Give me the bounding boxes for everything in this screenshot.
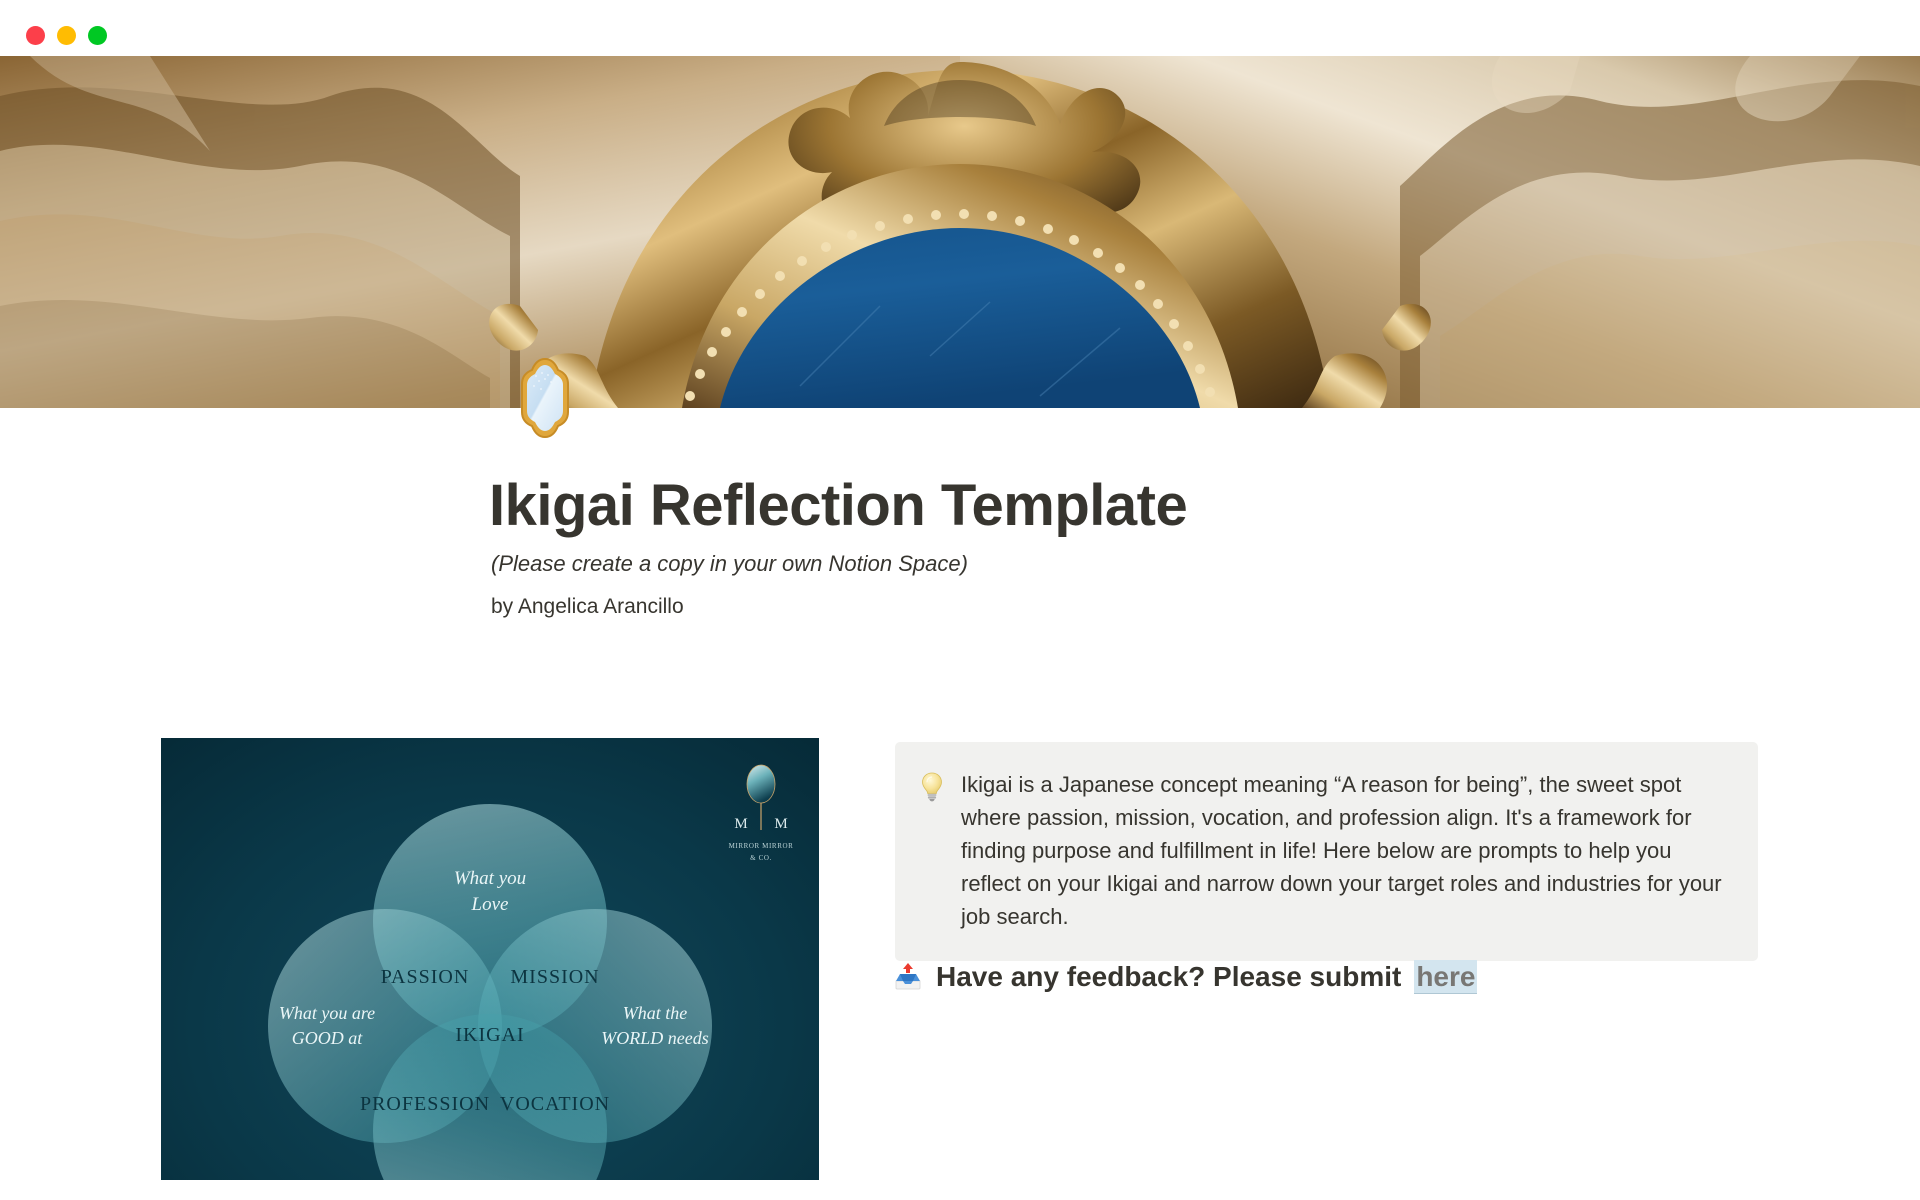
outbox-tray-icon (893, 962, 923, 992)
svg-text:M: M (774, 816, 787, 832)
svg-text:PROFESSION: PROFESSION (360, 1093, 490, 1115)
svg-text:Love: Love (471, 894, 509, 915)
page-title: Ikigai Reflection Template (489, 472, 1187, 539)
svg-text:& CO.: & CO. (750, 854, 772, 862)
svg-text:What you can be: What you can be (430, 1178, 550, 1180)
svg-text:What you: What you (454, 868, 526, 889)
document-body: Ikigai Reflection Template (Please creat… (0, 408, 1920, 1200)
info-callout: Ikigai is a Japanese concept meaning “A … (895, 742, 1758, 961)
page-cover-image (0, 56, 1920, 408)
callout-text: Ikigai is a Japanese concept meaning “A … (961, 768, 1728, 933)
window-controls (26, 26, 107, 45)
page-subtitle: (Please create a copy in your own Notion… (491, 551, 968, 577)
minimize-window-button[interactable] (57, 26, 76, 45)
page-icon-mirror-icon[interactable] (516, 356, 574, 440)
svg-text:GOOD at: GOOD at (292, 1028, 363, 1048)
svg-text:What the: What the (623, 1003, 688, 1023)
two-column-section: What you Love What you are GOOD at What … (0, 738, 1920, 1200)
feedback-label: Have any feedback? Please submit (936, 961, 1401, 993)
light-bulb-icon (921, 768, 943, 802)
close-window-button[interactable] (26, 26, 45, 45)
svg-text:WORLD needs: WORLD needs (601, 1028, 708, 1048)
page-byline: by Angelica Arancillo (491, 595, 684, 619)
svg-text:IKIGAI: IKIGAI (455, 1024, 524, 1046)
feedback-heading: Have any feedback? Please submit here (893, 960, 1477, 994)
svg-text:M: M (734, 816, 747, 832)
svg-text:MIRROR MIRROR: MIRROR MIRROR (729, 842, 794, 850)
maximize-window-button[interactable] (88, 26, 107, 45)
svg-text:VOCATION: VOCATION (500, 1093, 610, 1115)
feedback-submit-link[interactable]: here (1414, 960, 1477, 994)
svg-text:What you are: What you are (279, 1003, 375, 1023)
svg-text:PASSION: PASSION (381, 966, 470, 988)
svg-text:MISSION: MISSION (510, 966, 599, 988)
ikigai-venn-diagram-image[interactable]: What you Love What you are GOOD at What … (161, 738, 819, 1180)
